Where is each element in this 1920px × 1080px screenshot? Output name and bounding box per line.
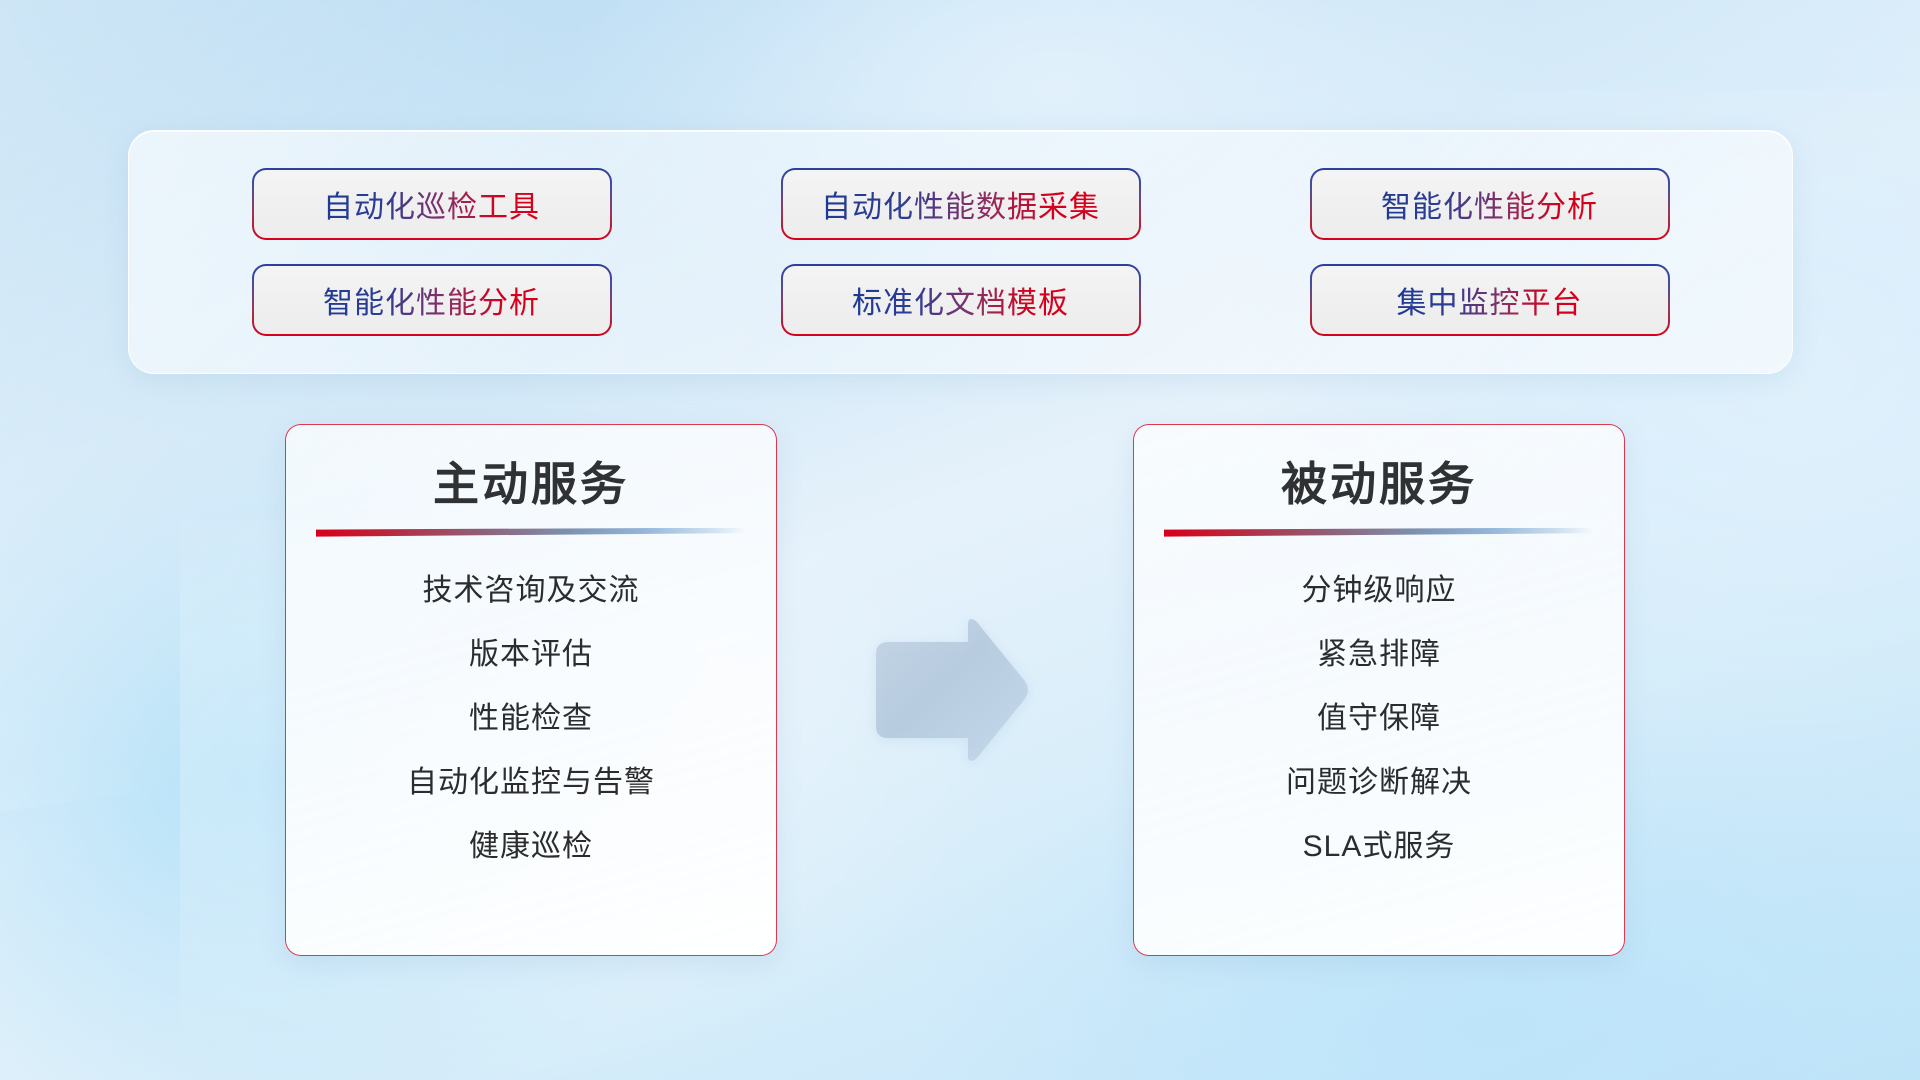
capability-chip-centralized-monitoring-platform[interactable]: 集中监控平台 (1312, 266, 1668, 334)
capabilities-panel: 自动化巡检工具 自动化性能数据采集 智能化性能分析 智能化性能分析 标准化文档模… (128, 130, 1793, 374)
list-item: 自动化监控与告警 (407, 765, 655, 801)
right-arrow-icon (872, 616, 1032, 764)
list-item: 版本评估 (469, 637, 593, 673)
service-card-passive: 被动服务 分钟级响应 紧急排障 值守保障 问题诊断解决 SLA式服务 (1133, 424, 1625, 956)
card-item-list-active: 技术咨询及交流 版本评估 性能检查 自动化监控与告警 健康巡检 (286, 573, 776, 865)
capability-chip-label: 集中监控平台 (1397, 278, 1583, 322)
capability-chip-standardized-document-template[interactable]: 标准化文档模板 (783, 266, 1139, 334)
capability-chip-label: 智能化性能分析 (323, 278, 540, 322)
capability-chip-label: 标准化文档模板 (852, 278, 1069, 322)
card-title-active: 主动服务 (433, 459, 629, 510)
capability-chip-label: 自动化巡检工具 (323, 182, 540, 226)
list-item: 问题诊断解决 (1286, 765, 1472, 801)
capability-chip-automated-performance-data-collection[interactable]: 自动化性能数据采集 (783, 170, 1139, 238)
capability-chip-automated-inspection-tool[interactable]: 自动化巡检工具 (254, 170, 610, 238)
card-title-underline-passive (1164, 528, 1594, 537)
service-card-active: 主动服务 技术咨询及交流 版本评估 性能检查 自动化监控与告警 健康巡检 (285, 424, 777, 956)
list-item: SLA式服务 (1303, 829, 1456, 865)
capabilities-row-2: 智能化性能分析 标准化文档模板 集中监控平台 (129, 266, 1792, 334)
list-item: 健康巡检 (469, 829, 593, 865)
list-item: 紧急排障 (1317, 637, 1441, 673)
list-item: 性能检查 (469, 701, 593, 737)
card-title-passive: 被动服务 (1281, 459, 1477, 510)
capabilities-row-1: 自动化巡检工具 自动化性能数据采集 智能化性能分析 (129, 170, 1792, 238)
list-item: 分钟级响应 (1302, 573, 1457, 609)
diagram-canvas: 自动化巡检工具 自动化性能数据采集 智能化性能分析 智能化性能分析 标准化文档模… (0, 0, 1920, 1080)
list-item: 技术咨询及交流 (423, 573, 640, 609)
capability-chip-intelligent-performance-analysis-2[interactable]: 智能化性能分析 (254, 266, 610, 334)
card-title-underline-active (316, 528, 746, 537)
capability-chip-label: 自动化性能数据采集 (821, 182, 1100, 226)
capability-chip-intelligent-performance-analysis-1[interactable]: 智能化性能分析 (1312, 170, 1668, 238)
list-item: 值守保障 (1317, 701, 1441, 737)
card-item-list-passive: 分钟级响应 紧急排障 值守保障 问题诊断解决 SLA式服务 (1134, 573, 1624, 865)
capability-chip-label: 智能化性能分析 (1381, 182, 1598, 226)
